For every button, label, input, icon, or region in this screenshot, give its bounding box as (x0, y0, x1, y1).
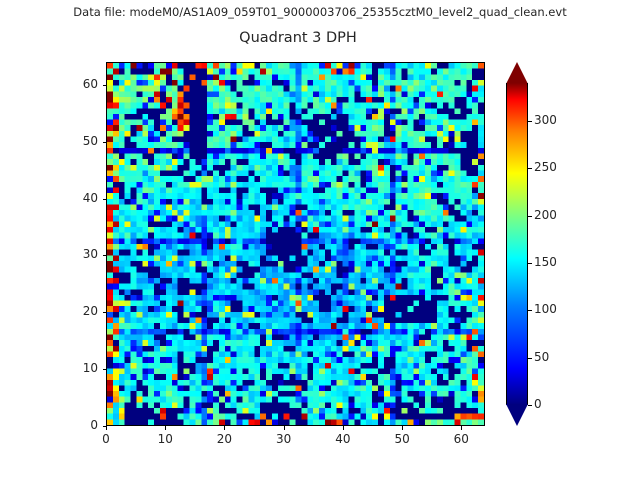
colorbar-tick-label: 200 (534, 208, 557, 222)
y-tick-label: 20 (64, 304, 98, 318)
x-tick-mark (224, 426, 225, 430)
x-tick-label: 30 (264, 432, 304, 446)
y-tick-mark (103, 199, 107, 200)
colorbar[interactable]: 050100150200250300 (506, 62, 528, 426)
colorbar-tick-mark (528, 310, 532, 311)
colorbar-tick-label: 100 (534, 302, 557, 316)
x-tick-mark (284, 426, 285, 430)
x-tick-mark (402, 426, 403, 430)
colorbar-tick-mark (528, 168, 532, 169)
y-tick-label: 60 (64, 77, 98, 91)
y-tick-mark (103, 142, 107, 143)
x-tick-mark (461, 426, 462, 430)
y-tick-label: 0 (64, 418, 98, 432)
y-tick-label: 10 (64, 361, 98, 375)
y-tick-mark (103, 312, 107, 313)
colorbar-tick-mark (528, 216, 532, 217)
x-tick-mark (165, 426, 166, 430)
y-tick-mark (103, 369, 107, 370)
x-tick-label: 20 (204, 432, 244, 446)
colorbar-tick-label: 50 (534, 350, 549, 364)
x-tick-label: 10 (145, 432, 185, 446)
figure-canvas: Data file: modeM0/AS1A09_059T01_90000037… (0, 0, 640, 480)
x-tick-label: 50 (382, 432, 422, 446)
y-tick-mark (103, 255, 107, 256)
heatmap-image (107, 63, 484, 425)
y-tick-label: 30 (64, 247, 98, 261)
colorbar-tick-label: 150 (534, 255, 557, 269)
colorbar-tick-mark (528, 358, 532, 359)
heatmap-axes[interactable] (106, 62, 485, 426)
y-tick-mark (103, 85, 107, 86)
x-tick-label: 0 (86, 432, 126, 446)
x-tick-label: 60 (441, 432, 481, 446)
x-tick-mark (106, 426, 107, 430)
y-tick-label: 50 (64, 134, 98, 148)
x-tick-mark (343, 426, 344, 430)
colorbar-tick-label: 300 (534, 113, 557, 127)
colorbar-extend-high-arrow-icon (506, 62, 528, 84)
colorbar-tick-mark (528, 263, 532, 264)
y-tick-label: 40 (64, 191, 98, 205)
colorbar-tick-mark (528, 121, 532, 122)
colorbar-extend-low-arrow-icon (506, 404, 528, 426)
colorbar-tick-mark (528, 405, 532, 406)
x-tick-label: 40 (323, 432, 363, 446)
colorbar-tick-label: 250 (534, 160, 557, 174)
colorbar-tick-label: 0 (534, 397, 542, 411)
colorbar-gradient (506, 83, 528, 405)
page-title: Quadrant 3 DPH (0, 30, 596, 46)
data-file-label: Data file: modeM0/AS1A09_059T01_90000037… (0, 5, 640, 19)
